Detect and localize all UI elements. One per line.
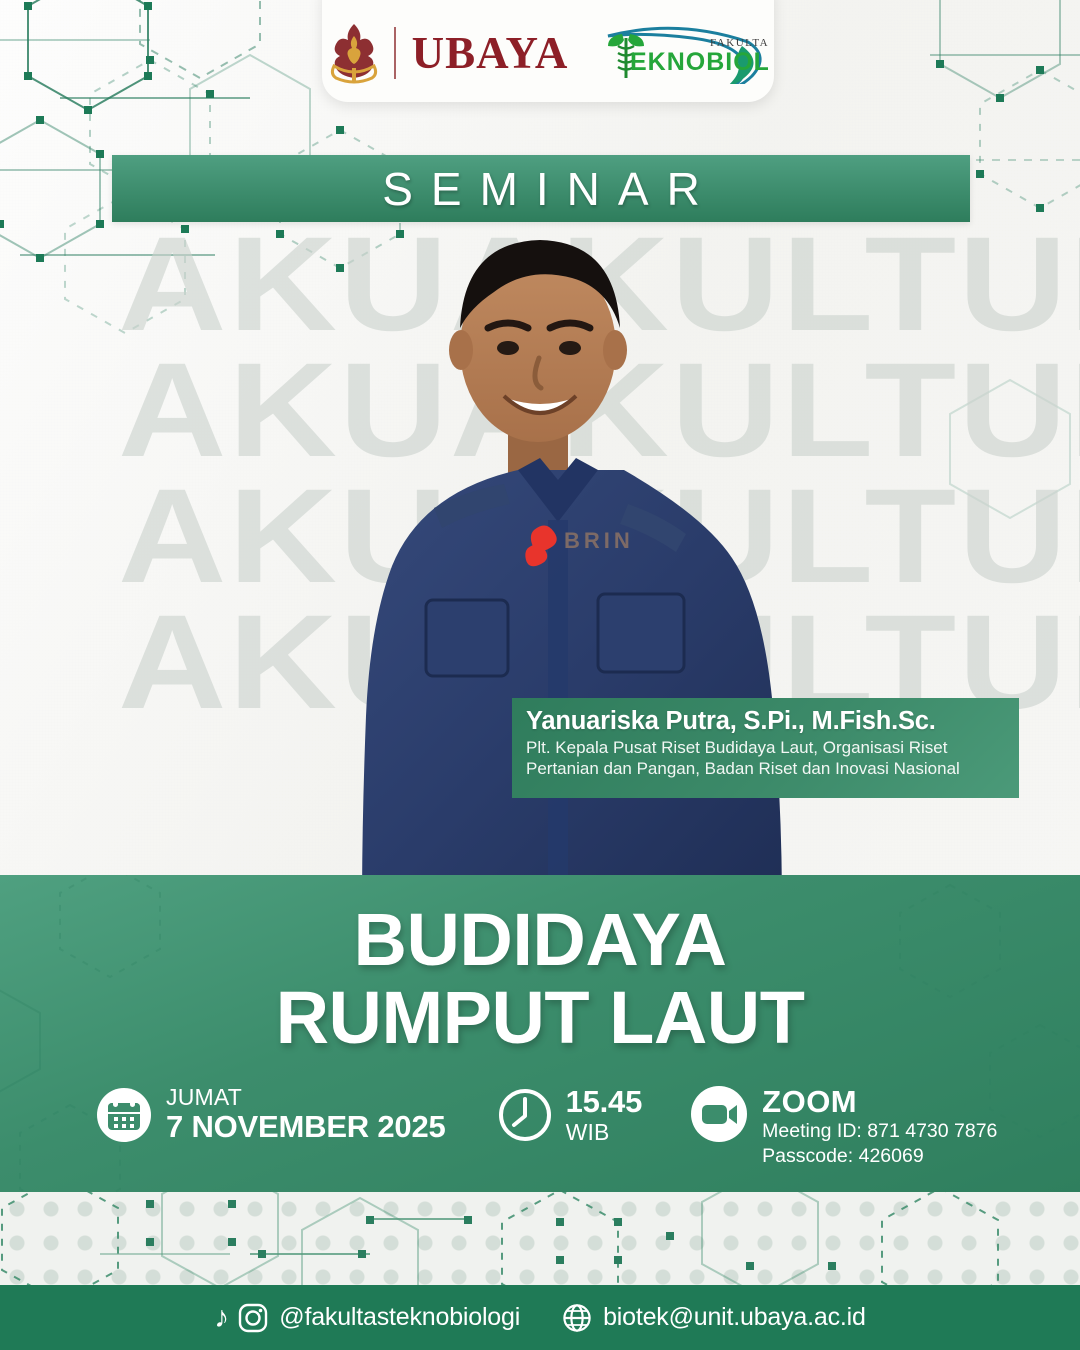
svg-text:BRIN: BRIN (564, 528, 634, 553)
instagram-contact[interactable]: ♪ @fakultasteknobiologi (214, 1303, 520, 1333)
date-value: 7 NOVEMBER 2025 (166, 1110, 446, 1145)
clock-icon (498, 1088, 552, 1142)
event-details-row: JUMAT 7 NOVEMBER 2025 15.45 WIB ZOOM (0, 1085, 1080, 1185)
ubaya-wordmark: UBAYA (412, 31, 569, 76)
seminar-label: SEMINAR (364, 162, 718, 216)
seminar-poster: AKUAKULTUR AKUAKULTUR AKUAKULTUR AKUAKUL… (0, 0, 1080, 1350)
email-address: biotek@unit.ubaya.ac.id (603, 1303, 866, 1332)
ubaya-crest-icon (328, 22, 380, 84)
meeting-passcode: Passcode: 426069 (762, 1144, 997, 1169)
title-line-1: BUDIDAYA (0, 901, 1080, 979)
platform-name: ZOOM (762, 1085, 997, 1119)
day-label: JUMAT (166, 1085, 446, 1110)
instagram-icon (238, 1303, 268, 1333)
time-block: 15.45 WIB (498, 1085, 643, 1145)
video-camera-icon (690, 1085, 748, 1143)
institution-logo-card: UBAYA FAKULTAS EKNOBIOLOGI (322, 0, 774, 102)
band-hexagon-lines (0, 1192, 1080, 1285)
speaker-name-box: Yanuariska Putra, S.Pi., M.Fish.Sc. Plt.… (512, 698, 1019, 798)
light-hexagon-band (0, 1192, 1080, 1285)
title-line-2: RUMPUT LAUT (0, 979, 1080, 1057)
platform-block: ZOOM Meeting ID: 871 4730 7876 Passcode:… (690, 1085, 997, 1169)
timezone-label: WIB (566, 1120, 643, 1145)
instagram-handle: @fakultasteknobiologi (279, 1303, 520, 1332)
speaker-role-line-1: Plt. Kepala Pusat Riset Budidaya Laut, O… (526, 738, 1007, 758)
meeting-id: Meeting ID: 871 4730 7876 (762, 1119, 997, 1144)
email-contact[interactable]: biotek@unit.ubaya.ac.id (562, 1303, 866, 1333)
globe-icon (562, 1303, 592, 1333)
speaker-role-line-2: Pertanian dan Pangan, Badan Riset dan In… (526, 759, 1007, 779)
speaker-name: Yanuariska Putra, S.Pi., M.Fish.Sc. (526, 707, 1007, 736)
teknobiologi-dna-leaf-icon: FAKULTAS EKNOBIOLOGI (592, 22, 768, 84)
music-note-icon: ♪ (214, 1303, 229, 1333)
logo-divider (394, 27, 396, 79)
time-value: 15.45 (566, 1085, 643, 1120)
seminar-banner: SEMINAR (112, 155, 970, 222)
speaker-photo: BRIN (330, 208, 800, 908)
date-block: JUMAT 7 NOVEMBER 2025 (96, 1085, 446, 1145)
event-title: BUDIDAYA RUMPUT LAUT (0, 901, 1080, 1058)
calendar-icon (96, 1087, 152, 1143)
footer-bar: ♪ @fakultasteknobiologi biotek@unit.ubay… (0, 1285, 1080, 1350)
faculty-wordmark: EKNOBIOLOGI (630, 48, 768, 76)
